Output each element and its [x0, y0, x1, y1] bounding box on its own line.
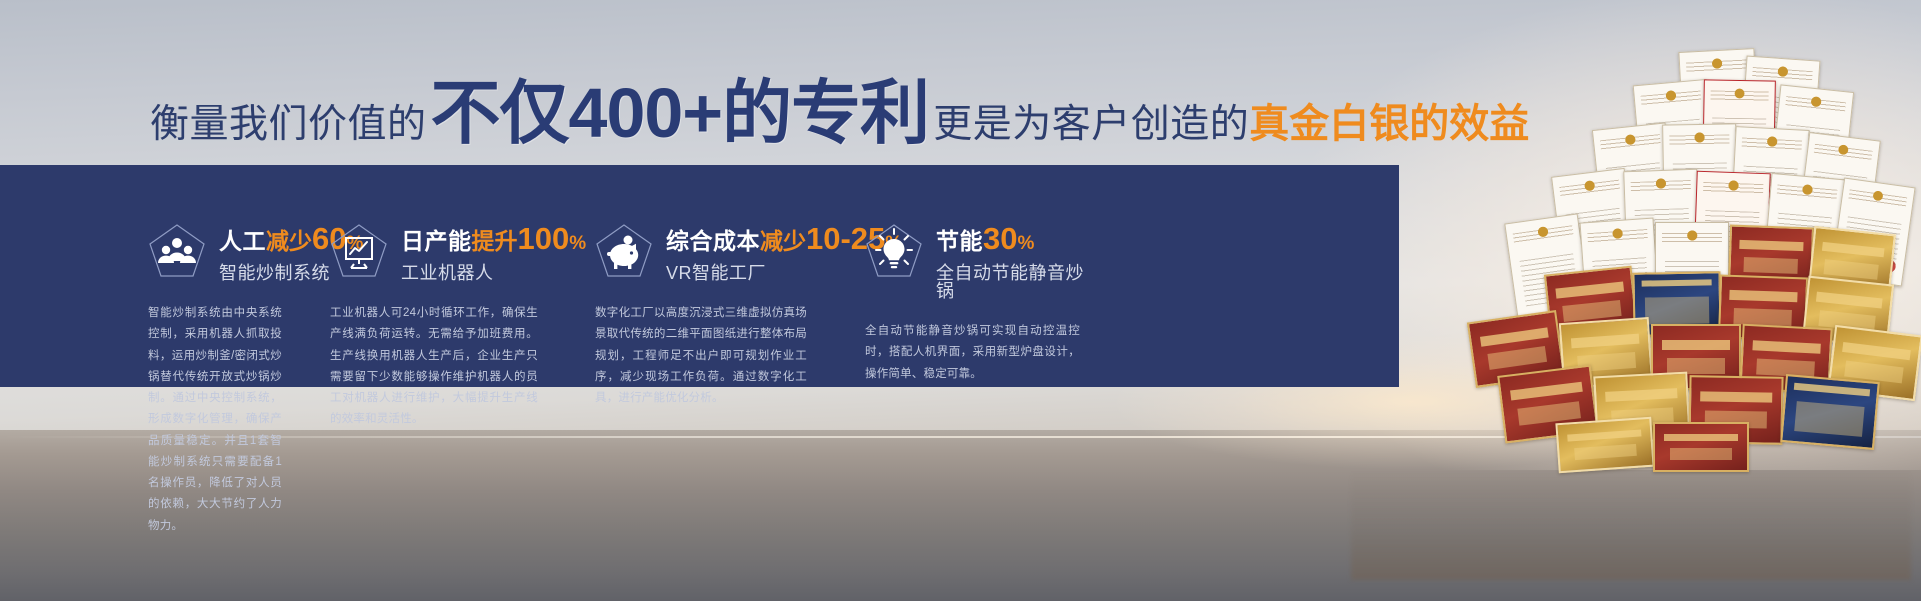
- pile-reflection: [1351, 470, 1911, 580]
- feature-list: 人工减少60% 智能炒制系统 智能炒制系统由中央系统控制，采用机器人抓取投料，运…: [0, 165, 1399, 387]
- feature-title-main: 人工: [219, 228, 266, 254]
- feature-header: 节能30% 全自动节能静音炒锅: [865, 221, 1095, 300]
- headline-highlight: 不仅400+的专利: [427, 78, 934, 148]
- feature-header: 日产能提升100% 工业机器人: [330, 221, 547, 282]
- feature-title-percent: %: [1017, 233, 1034, 254]
- feature-body-text: 全自动节能静音炒锅可实现自动控温控时，搭配人机界面，采用新型炉盘设计，操作简单、…: [865, 321, 1080, 385]
- feature-title-accent: 减少: [266, 228, 312, 254]
- feature-item-energy: 节能30% 全自动节能静音炒锅 全自动节能静音炒锅可实现自动控温控时，搭配人机界…: [843, 165, 1123, 387]
- feature-body-text: 智能炒制系统由中央系统控制，采用机器人抓取投料，运用炒制釜/密闭式炒锅替代传统开…: [148, 303, 282, 537]
- feature-panel: 人工减少60% 智能炒制系统 智能炒制系统由中央系统控制，采用机器人抓取投料，运…: [0, 165, 1399, 387]
- page-title: 衡量我们价值的 不仅400+的专利 更是为客户创造的 真金白银的效益: [150, 78, 1529, 148]
- feature-titles: 日产能提升100% 工业机器人: [401, 221, 586, 282]
- feature-title: 日产能提升100%: [401, 223, 586, 254]
- banner-stage: 衡量我们价值的 不仅400+的专利 更是为客户创造的 真金白银的效益: [0, 0, 1921, 601]
- team-people-icon: [148, 223, 206, 279]
- piggy-bank-icon: [595, 223, 653, 279]
- feature-titles: 节能30% 全自动节能静音炒锅: [936, 221, 1095, 300]
- chart-board-icon: [330, 223, 388, 279]
- feature-title-main: 综合成本: [666, 228, 760, 254]
- feature-title-main: 日产能: [401, 228, 472, 254]
- feature-header: 人工减少60% 智能炒制系统: [148, 221, 282, 282]
- feature-title-main: 节能: [936, 228, 983, 254]
- feature-body-text: 数字化工厂以高度沉浸式三维虚拟仿真场景取代传统的二维平面图纸进行整体布局规划，工…: [595, 303, 807, 409]
- award-plaque: [1653, 422, 1749, 472]
- feature-title-number: 30: [983, 221, 1017, 256]
- feature-subtitle: 工业机器人: [401, 264, 586, 282]
- feature-header: 综合成本减少10-25% VR智能工厂: [595, 221, 815, 282]
- feature-title-number: 100: [518, 221, 570, 256]
- headline-middle: 更是为客户创造的: [933, 105, 1249, 144]
- feature-title-accent: 减少: [760, 228, 806, 254]
- lightbulb-icon: [865, 223, 923, 279]
- feature-item-cost: 综合成本减少10-25% VR智能工厂 数字化工厂以高度沉浸式三维虚拟仿真场景取…: [575, 165, 843, 387]
- award-plaque: [1780, 374, 1880, 450]
- certificate-pile: [1351, 40, 1911, 470]
- feature-item-labor: 人工减少60% 智能炒制系统 智能炒制系统由中央系统控制，采用机器人抓取投料，运…: [0, 165, 310, 387]
- award-plaque: [1555, 417, 1654, 474]
- feature-subtitle: 全自动节能静音炒锅: [936, 264, 1095, 300]
- feature-item-capacity: 日产能提升100% 工业机器人 工业机器人可24小时循环工作，确保生产线满负荷运…: [310, 165, 575, 387]
- feature-body-text: 工业机器人可24小时循环工作，确保生产线满负荷运转。无需给予加班费用。生产线换用…: [330, 303, 538, 431]
- feature-title-accent: 提升: [472, 228, 518, 254]
- feature-title: 节能30%: [936, 223, 1095, 254]
- headline-prefix: 衡量我们价值的: [150, 105, 427, 144]
